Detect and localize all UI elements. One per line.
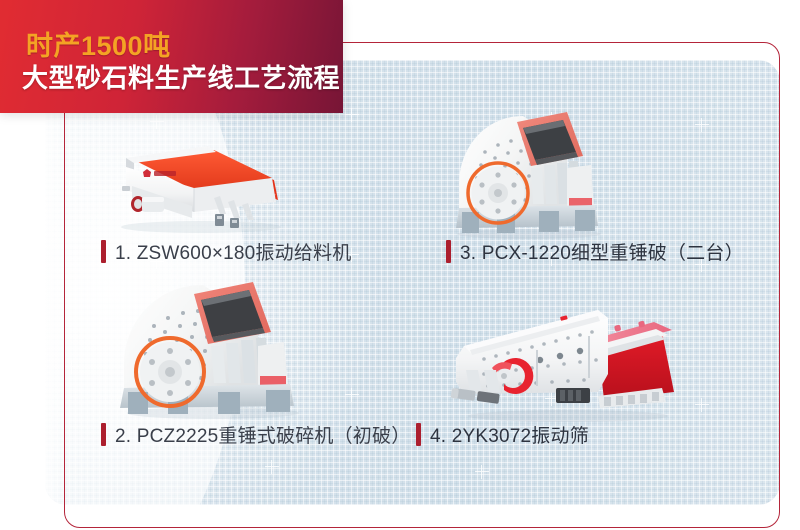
equipment-label-2: 2. PCZ2225重锤式破碎机（初破） bbox=[101, 421, 410, 448]
label-accent-bar bbox=[416, 423, 421, 446]
banner-title-line2: 大型砂石料生产线工艺流程 bbox=[22, 58, 340, 95]
label-accent-bar bbox=[446, 240, 451, 263]
label-accent-bar bbox=[101, 423, 106, 446]
equipment-label-3-text: 3. PCX-1220细型重锤破（二台） bbox=[460, 238, 744, 265]
poster-stage: 1. ZSW600×180振动给料机 2. PCZ2225重锤式破碎机（初破） … bbox=[0, 0, 800, 530]
equipment-label-1: 1. ZSW600×180振动给料机 bbox=[101, 238, 351, 265]
screen-motor-block bbox=[556, 388, 590, 403]
machine-image-vibrating-feeder bbox=[96, 128, 286, 233]
machine-image-vibrating-screen bbox=[448, 296, 680, 422]
machine-image-fine-hammer-crusher bbox=[443, 108, 608, 240]
left-gutter-highlight bbox=[45, 60, 67, 505]
feeder-motor bbox=[131, 196, 164, 212]
title-banner: 时产1500吨 大型砂石料生产线工艺流程 bbox=[0, 0, 343, 113]
equipment-label-4: 4. 2YK3072振动筛 bbox=[416, 421, 589, 448]
label-accent-bar bbox=[101, 240, 106, 263]
crusher-flywheel bbox=[136, 338, 204, 406]
crusher-flywheel bbox=[468, 163, 528, 223]
equipment-label-1-text: 1. ZSW600×180振动给料机 bbox=[115, 238, 351, 265]
equipment-label-4-text: 4. 2YK3072振动筛 bbox=[430, 421, 589, 448]
equipment-label-3: 3. PCX-1220细型重锤破（二台） bbox=[446, 238, 744, 265]
equipment-label-2-text: 2. PCZ2225重锤式破碎机（初破） bbox=[115, 421, 410, 448]
machine-image-heavy-hammer-crusher bbox=[108, 280, 308, 420]
